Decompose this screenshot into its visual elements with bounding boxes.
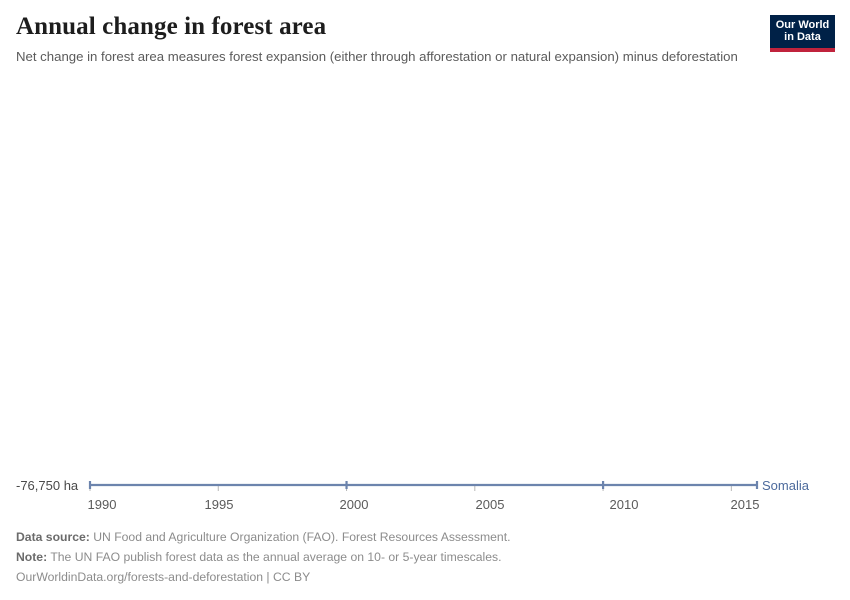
chart-footer: Data source: UN Food and Agriculture Org… — [16, 527, 816, 587]
x-axis-ticks — [90, 486, 731, 491]
footer-source-text: UN Food and Agriculture Organization (FA… — [93, 530, 510, 544]
owid-url-link[interactable]: OurWorldinData.org/forests-and-deforesta… — [16, 570, 310, 584]
x-axis-tick-label-2010: 2010 — [610, 497, 639, 512]
owid-logo-line-1: Our World — [776, 19, 830, 31]
x-axis-tick-label-2015: 2015 — [731, 497, 760, 512]
footer-note-label: Note: — [16, 550, 47, 564]
series-somalia[interactable] — [90, 481, 757, 489]
owid-logo-line-2: in Data — [784, 31, 821, 43]
footer-note-line: Note: The UN FAO publish forest data as … — [16, 547, 816, 567]
footer-link-line[interactable]: OurWorldinData.org/forests-and-deforesta… — [16, 567, 816, 587]
page-title: Annual change in forest area — [16, 12, 761, 42]
chart-header: Annual change in forest area Net change … — [16, 12, 761, 66]
footer-source-label: Data source: — [16, 530, 90, 544]
y-axis-tick-label: -76,750 ha — [16, 478, 78, 493]
x-axis-tick-label-1995: 1995 — [205, 497, 234, 512]
line-chart-svg — [0, 95, 850, 520]
x-axis-tick-label-2000: 2000 — [340, 497, 369, 512]
x-axis-tick-label-1990: 1990 — [88, 497, 117, 512]
chart-plot-area[interactable]: -76,750 ha 1990 1995 2000 2005 2010 2015… — [0, 95, 850, 520]
footer-source-line: Data source: UN Food and Agriculture Org… — [16, 527, 816, 547]
series-end-label-somalia[interactable]: Somalia — [762, 478, 809, 493]
chart-subtitle: Net change in forest area measures fores… — [16, 48, 742, 66]
x-axis-tick-label-2005: 2005 — [476, 497, 505, 512]
owid-logo[interactable]: Our World in Data — [770, 15, 835, 52]
footer-note-text: The UN FAO publish forest data as the an… — [50, 550, 501, 564]
